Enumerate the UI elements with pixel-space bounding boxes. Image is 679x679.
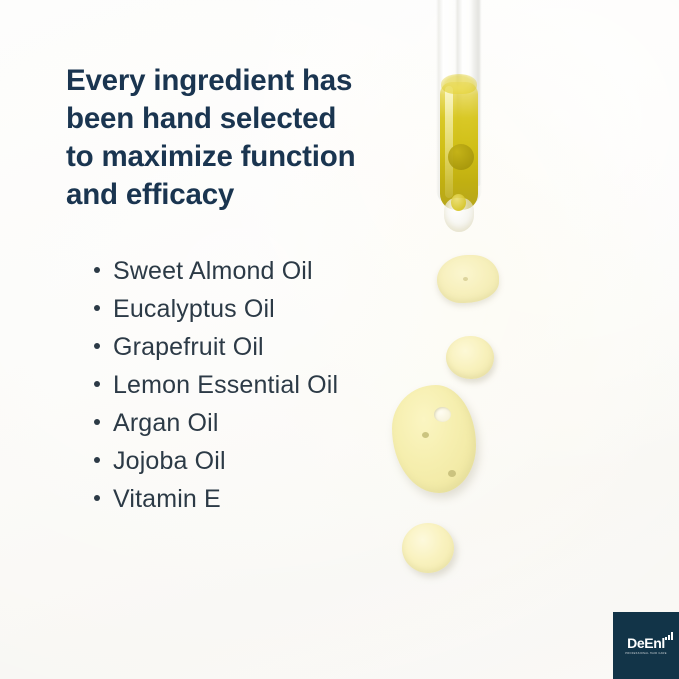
ingredient-label: Argan Oil bbox=[113, 409, 219, 438]
brand-badge: DeEnl PROFESSIONAL HAIR CARE bbox=[613, 612, 679, 679]
headline-line: and efficacy bbox=[66, 176, 396, 214]
ingredient-label: Vitamin E bbox=[113, 485, 221, 514]
headline-line: Every ingredient has bbox=[66, 62, 396, 100]
pipette-oil-bubble bbox=[448, 144, 474, 170]
pipette-oil-meniscus bbox=[441, 74, 477, 94]
ingredient-list: Sweet Almond Oil Eucalyptus Oil Grapefru… bbox=[94, 257, 338, 523]
headline-line: to maximize function bbox=[66, 138, 396, 176]
bullet-icon bbox=[94, 343, 100, 349]
ingredient-label: Lemon Essential Oil bbox=[113, 371, 338, 400]
ingredient-label: Eucalyptus Oil bbox=[113, 295, 275, 324]
pipette-tip-droplet bbox=[451, 194, 466, 211]
headline: Every ingredient has been hand selected … bbox=[66, 62, 396, 214]
bullet-icon bbox=[94, 381, 100, 387]
list-item: Sweet Almond Oil bbox=[94, 257, 338, 295]
headline-line: been hand selected bbox=[66, 100, 396, 138]
brand-wordmark-group: DeEnl bbox=[627, 636, 665, 650]
promo-image-canvas: Every ingredient has been hand selected … bbox=[0, 0, 679, 679]
list-item: Vitamin E bbox=[94, 485, 338, 523]
ingredient-label: Grapefruit Oil bbox=[113, 333, 264, 362]
oil-droplet-4 bbox=[402, 523, 454, 573]
ingredient-label: Sweet Almond Oil bbox=[113, 257, 313, 286]
oil-droplet-1 bbox=[437, 255, 499, 303]
list-item: Grapefruit Oil bbox=[94, 333, 338, 371]
oil-droplet-bubble bbox=[434, 407, 451, 422]
glass-dropper-pipette-icon bbox=[428, 0, 502, 246]
list-item: Argan Oil bbox=[94, 409, 338, 447]
bullet-icon bbox=[94, 495, 100, 501]
bullet-icon bbox=[94, 457, 100, 463]
ascending-bars-icon bbox=[665, 632, 673, 640]
brand-wordmark: DeEnl bbox=[627, 635, 665, 651]
bullet-icon bbox=[94, 267, 100, 273]
oil-droplet-2 bbox=[446, 336, 494, 379]
list-item: Eucalyptus Oil bbox=[94, 295, 338, 333]
list-item: Jojoba Oil bbox=[94, 447, 338, 485]
bullet-icon bbox=[94, 419, 100, 425]
brand-tagline: PROFESSIONAL HAIR CARE bbox=[625, 652, 667, 655]
oil-droplet-speck bbox=[422, 432, 429, 438]
ingredient-label: Jojoba Oil bbox=[113, 447, 226, 476]
list-item: Lemon Essential Oil bbox=[94, 371, 338, 409]
oil-droplet-speck bbox=[448, 470, 456, 477]
bullet-icon bbox=[94, 305, 100, 311]
